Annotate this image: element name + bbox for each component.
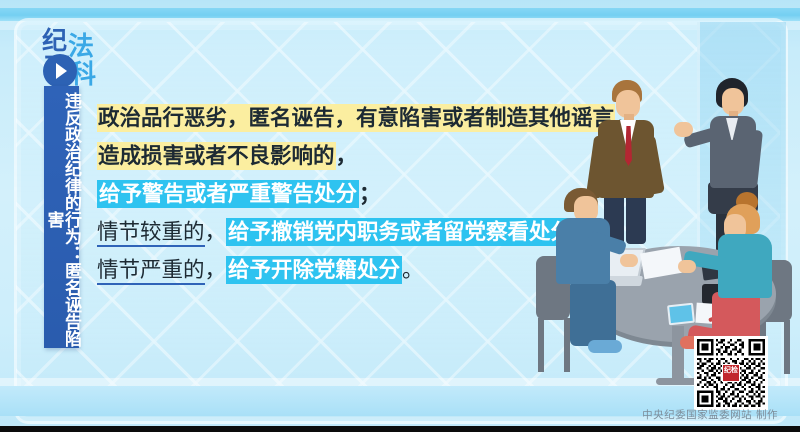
line-4-highlight: 给予撤销党内职务或者留党察看处分 <box>226 218 574 246</box>
line-5-punct: 。 <box>402 258 424 282</box>
vertical-title-text: 违反政治纪律的行为：匿名诬告陷害 <box>44 90 79 348</box>
seated-woman-hand <box>678 260 696 273</box>
seated-man-torso <box>556 218 610 284</box>
standing-man-leg-right <box>626 194 646 244</box>
play-icon <box>43 54 77 88</box>
qr-center-badge: 纪检 <box>722 364 740 382</box>
text-line-2: 造成损害或者不良影响的， <box>97 142 617 170</box>
line-5-comma: ， <box>205 258 227 282</box>
line-4-condition: 情节较重的 <box>97 220 205 247</box>
line-4-comma: ， <box>205 220 227 244</box>
seated-man-shoe <box>588 340 622 353</box>
text-line-1: 政治品行恶劣，匿名诬告，有意陷害或者制造其他谣言， <box>97 104 617 132</box>
table-leg <box>672 326 684 382</box>
logo-char-fa: 法 <box>68 34 94 60</box>
line-2-highlight: 造成损害或者不良影响的 <box>97 142 336 170</box>
chair-left-leg-1 <box>538 318 544 372</box>
smartphone <box>667 303 695 326</box>
footer-credit: 中央纪委国家监委网站 制作 <box>642 407 778 422</box>
line-3-highlight: 给予警告或者严重警告处分 <box>97 180 359 208</box>
line-2-punct: ， <box>336 144 358 168</box>
chair-right-leg-2 <box>784 320 790 374</box>
seated-man-legs <box>570 280 616 346</box>
poster-canvas: 纪 法 科 百 违反政治纪律的行为：匿名诬告陷害 政治品行恶劣，匿名诬告，有意陷… <box>0 0 800 432</box>
text-line-4: 情节较重的，给予撤销党内职务或者留党察看处分； <box>97 218 617 246</box>
vertical-title-banner: 违反政治纪律的行为：匿名诬告陷害 <box>44 86 79 348</box>
standing-woman-hand <box>674 122 693 137</box>
seated-man-hand <box>620 254 638 267</box>
line-3-punct: ； <box>359 182 381 206</box>
line-5-highlight: 给予开除党籍处分 <box>226 256 402 284</box>
line-5-condition: 情节严重的 <box>97 258 205 285</box>
line-1-highlight: 政治品行恶劣，匿名诬告，有意陷害或者制造其他谣言 <box>97 104 615 132</box>
bottom-bar <box>0 426 800 432</box>
text-line-3: 给予警告或者严重警告处分； <box>97 180 617 208</box>
